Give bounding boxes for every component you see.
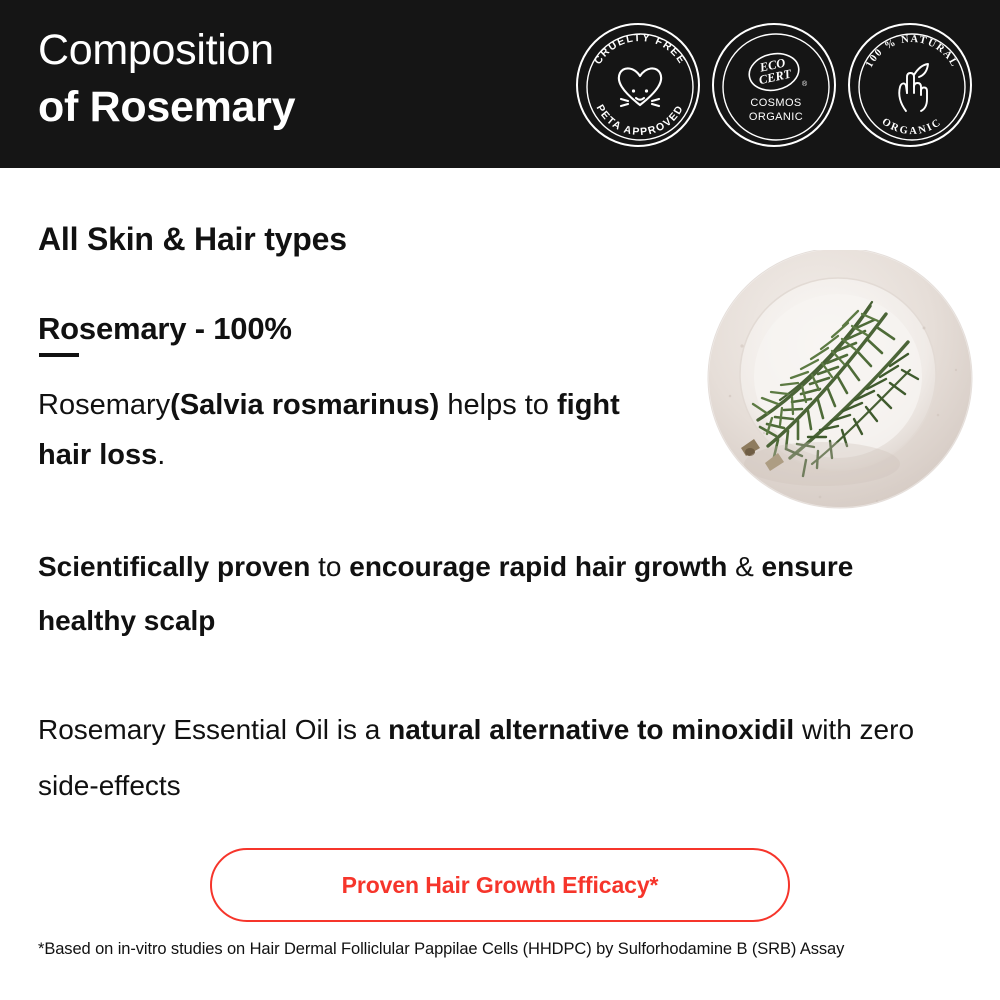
- heading-rosemary-percentage: Rosemary - 100%: [38, 311, 292, 347]
- proven-text-2: &: [727, 551, 761, 582]
- paragraph-minoxidil-alternative: Rosemary Essential Oil is a natural alte…: [38, 702, 928, 814]
- hand-leaf-icon: [899, 64, 928, 111]
- content-area: All Skin & Hair types Rosemary - 100% Ro…: [0, 168, 1000, 1000]
- cta-label: Proven Hair Growth Efficacy*: [342, 872, 659, 899]
- proven-text-1: to: [310, 551, 349, 582]
- ecocert-mark-icon: ECO CERT ®: [746, 49, 808, 95]
- paragraph-salvia-rosmarinus: Rosemary(Salvia rosmarinus) helps to fig…: [38, 380, 658, 480]
- heading-all-skin-hair-types: All Skin & Hair types: [38, 221, 347, 258]
- svg-text:CRUELTY FREE: CRUELTY FREE: [592, 32, 688, 67]
- page-title: Composition of Rosemary: [38, 22, 295, 136]
- salvia-text-2: helps to: [439, 389, 557, 421]
- page-title-line-2: of Rosemary: [38, 79, 295, 136]
- svg-text:ORGANIC: ORGANIC: [880, 116, 945, 137]
- svg-text:COSMOS: COSMOS: [750, 97, 801, 109]
- salvia-text-1: Rosemary: [38, 389, 170, 421]
- svg-text:PETA APPROVED: PETA APPROVED: [594, 103, 687, 139]
- certification-badges: CRUELTY FREE PETA APPROVED: [542, 22, 972, 148]
- rosemary-in-stone-bowl-photo: [672, 250, 990, 522]
- proven-bold-1: Scientifically proven: [38, 551, 310, 582]
- svg-text:®: ®: [802, 80, 808, 88]
- 100-percent-natural-organic-badge: 100 % NATURAL ORGANIC: [848, 23, 972, 147]
- peta-cruelty-free-badge: CRUELTY FREE PETA APPROVED: [576, 23, 700, 147]
- svg-text:ORGANIC: ORGANIC: [749, 111, 803, 123]
- minox-text-1: Rosemary Essential Oil is a: [38, 714, 388, 745]
- proven-hair-growth-efficacy-button[interactable]: Proven Hair Growth Efficacy*: [210, 848, 790, 922]
- proven-bold-2: encourage rapid hair growth: [349, 551, 727, 582]
- bunny-heart-icon: [619, 68, 661, 106]
- minox-bold-1: natural alternative to minoxidil: [388, 714, 794, 745]
- salvia-text-3: .: [157, 439, 165, 471]
- page-title-line-1: Composition: [38, 22, 295, 79]
- paragraph-scientifically-proven: Scientifically proven to encourage rapid…: [38, 540, 868, 648]
- svg-text:100 % NATURAL: 100 % NATURAL: [864, 34, 960, 70]
- heading-underline-rule: [39, 353, 79, 357]
- ecocert-cosmos-organic-badge: ECO CERT ® COSMOS ORGANIC: [712, 23, 836, 147]
- salvia-bold-1: (Salvia rosmarinus): [170, 389, 439, 421]
- header-band: Composition of Rosemary CRUELTY FREE PET…: [0, 0, 1000, 168]
- footnote-disclaimer: *Based on in-vitro studies on Hair Derma…: [38, 940, 978, 959]
